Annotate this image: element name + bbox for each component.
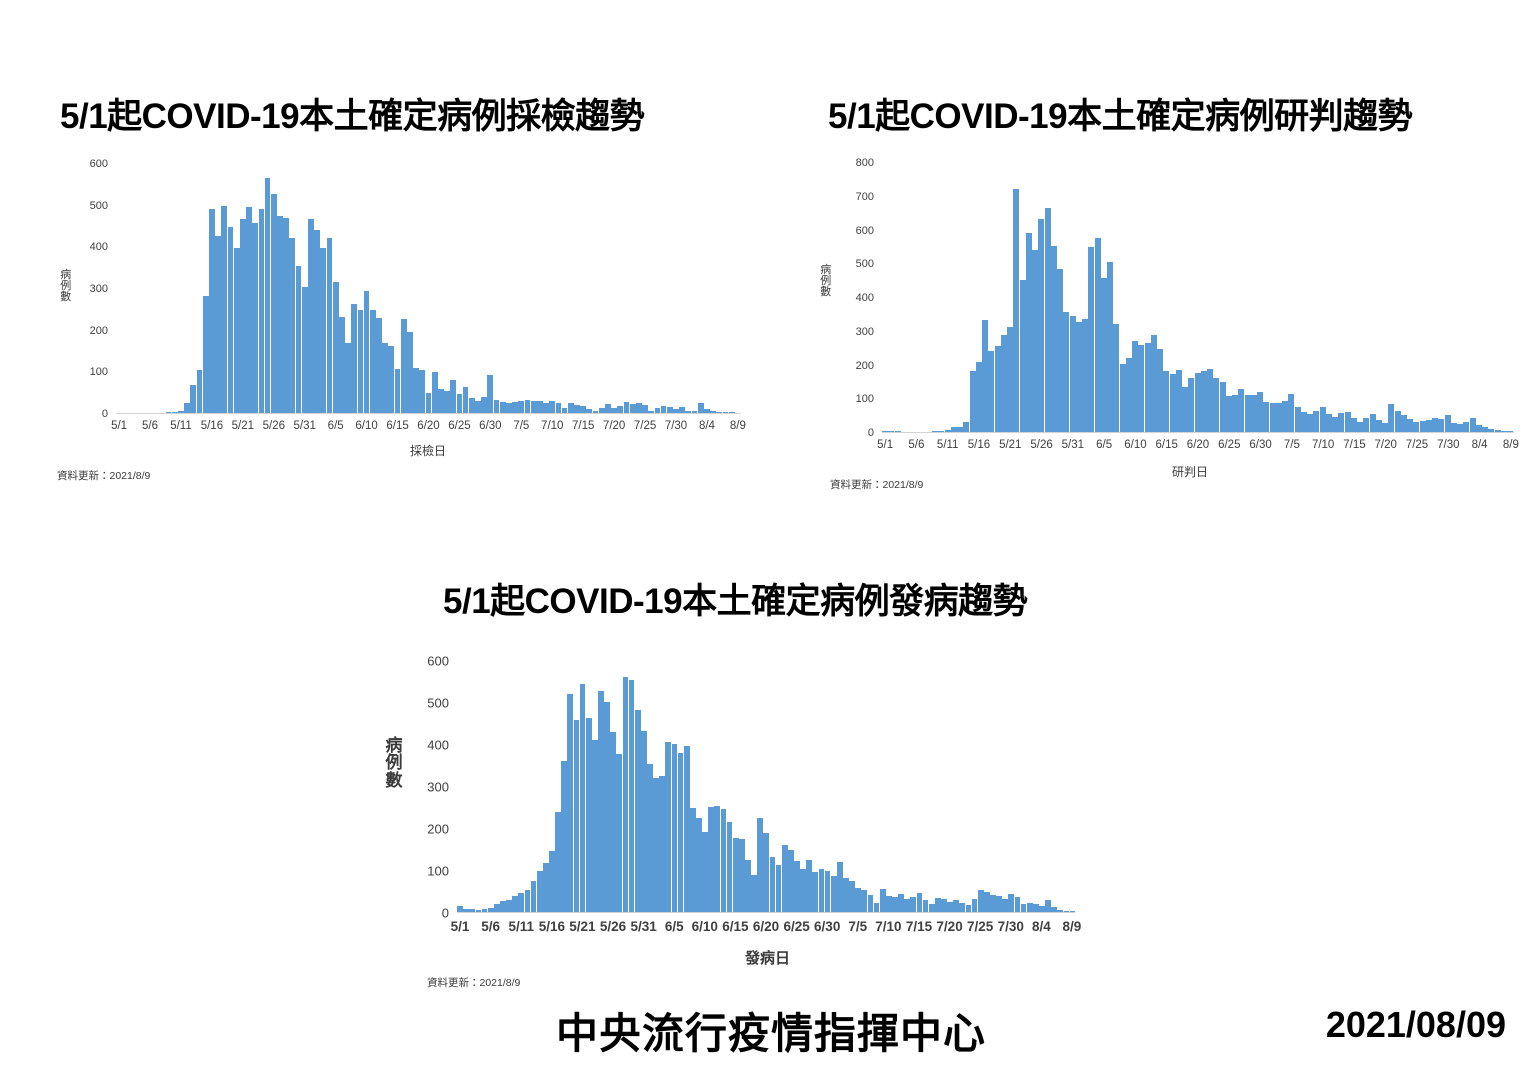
bar <box>1027 903 1033 912</box>
bar <box>963 422 969 432</box>
bar <box>555 812 561 912</box>
bar <box>265 178 271 413</box>
bar <box>1201 371 1207 432</box>
x-tick-label: 6/20 <box>1187 439 1209 451</box>
bar <box>1001 335 1007 432</box>
bar <box>708 807 714 912</box>
bar <box>370 310 376 413</box>
bar <box>837 862 843 912</box>
bar <box>543 863 549 912</box>
x-tick-label: 8/9 <box>730 420 746 432</box>
bar <box>327 238 333 413</box>
x-tick-label: 5/1 <box>111 420 127 432</box>
x-tick-label: 7/5 <box>513 420 529 432</box>
bar <box>932 431 938 432</box>
bar <box>568 403 574 413</box>
bar <box>586 409 592 413</box>
bar <box>1270 403 1276 432</box>
bar <box>1145 343 1151 432</box>
bar <box>935 898 941 912</box>
bar <box>1407 419 1413 433</box>
bar <box>1307 414 1313 432</box>
bar <box>593 411 599 413</box>
bar <box>882 431 888 432</box>
bar <box>898 894 904 912</box>
bar <box>1063 312 1069 432</box>
bar <box>215 236 221 413</box>
bar <box>1002 899 1008 912</box>
x-tick-label: 5/6 <box>481 919 500 934</box>
bar <box>714 806 720 912</box>
bar <box>172 412 178 413</box>
bar <box>1332 417 1338 432</box>
x-axis-ticks-sampling: 5/15/65/115/165/215/265/316/56/106/156/2… <box>116 420 741 436</box>
y-tick-label: 200 <box>856 360 874 372</box>
bar <box>895 431 901 432</box>
bar <box>271 194 277 413</box>
bar <box>667 407 673 413</box>
bar <box>655 408 661 413</box>
y-tick-label: 400 <box>856 292 874 304</box>
bar <box>469 398 475 413</box>
bar <box>976 362 982 432</box>
bar <box>574 405 580 413</box>
bar <box>1507 431 1513 432</box>
x-tick-label: 7/10 <box>875 919 901 934</box>
bar <box>518 401 524 413</box>
bar <box>382 343 388 413</box>
bar <box>641 731 647 912</box>
bar <box>849 881 855 913</box>
x-axis-title-onset: 發病日 <box>745 947 790 968</box>
y-tick-label: 200 <box>427 822 449 837</box>
bar <box>506 403 512 413</box>
bar <box>806 860 812 913</box>
bar <box>302 287 308 413</box>
x-tick-label: 5/26 <box>263 420 285 432</box>
bar <box>481 397 487 413</box>
bar <box>888 431 894 432</box>
bar <box>1482 427 1488 432</box>
bar <box>659 776 665 912</box>
bar <box>1313 411 1319 432</box>
bar <box>1488 429 1494 432</box>
y-tick-label: 500 <box>427 696 449 711</box>
bar <box>716 412 722 413</box>
bar <box>770 857 776 912</box>
bar <box>246 207 252 413</box>
chart-title-sampling: 5/1起COVID-19本土確定病例採檢趨勢 <box>60 88 644 139</box>
x-tick-label: 5/11 <box>170 420 192 432</box>
bar <box>1082 319 1088 432</box>
bar <box>580 684 586 912</box>
bar <box>500 901 506 912</box>
bar <box>1188 378 1194 432</box>
x-tick-label: 7/20 <box>936 919 962 934</box>
bar <box>673 409 679 413</box>
y-axis-title-char: 數 <box>385 772 403 789</box>
x-tick-label: 5/6 <box>908 439 924 451</box>
bar <box>972 899 978 912</box>
y-tick-label: 400 <box>90 241 108 253</box>
bar <box>190 385 196 413</box>
bar <box>678 753 684 912</box>
bar <box>413 368 419 413</box>
x-axis-title-determination: 研判日 <box>1172 463 1208 480</box>
bar <box>314 230 320 413</box>
bar <box>988 351 994 432</box>
bar <box>487 375 493 413</box>
bar <box>395 369 401 413</box>
footer-organization: 中央流行疫情指揮中心 <box>556 1000 986 1061</box>
bar <box>1282 401 1288 432</box>
bar <box>910 897 916 912</box>
bar <box>800 869 806 912</box>
y-tick-label: 100 <box>427 864 449 879</box>
bar <box>543 403 549 413</box>
bar <box>739 839 745 913</box>
bar <box>500 402 506 413</box>
bar <box>782 845 788 912</box>
bar <box>494 904 500 912</box>
y-tick-label: 300 <box>856 326 874 338</box>
x-tick-label: 5/21 <box>999 439 1021 451</box>
bar <box>1238 389 1244 432</box>
y-axis-title-char: 病 <box>385 737 403 754</box>
bar <box>794 861 800 912</box>
plot-area-sampling <box>116 164 741 414</box>
bar <box>1457 424 1463 432</box>
bar <box>692 411 698 413</box>
bar <box>252 223 258 413</box>
bar <box>696 818 702 912</box>
x-tick-label: 5/16 <box>968 439 990 451</box>
bar <box>729 412 735 413</box>
x-tick-label: 5/21 <box>232 420 254 432</box>
bar <box>672 744 678 912</box>
bar <box>616 754 622 912</box>
x-tick-label: 5/21 <box>569 919 595 934</box>
x-axis-ticks-onset: 5/15/65/115/165/215/265/316/56/106/156/2… <box>457 919 1075 935</box>
bar <box>1470 418 1476 432</box>
bar <box>240 219 246 413</box>
x-tick-label: 5/16 <box>539 919 565 934</box>
bar <box>642 405 648 413</box>
bar <box>751 875 757 912</box>
bar <box>996 896 1002 912</box>
bar <box>661 406 667 414</box>
bar <box>512 402 518 413</box>
x-tick-label: 7/25 <box>1406 439 1428 451</box>
bar <box>444 391 450 413</box>
bar <box>1015 897 1021 912</box>
x-tick-label: 6/5 <box>665 919 684 934</box>
y-tick-label: 600 <box>90 158 108 170</box>
bar <box>283 218 289 413</box>
bar <box>990 895 996 912</box>
bar <box>825 871 831 912</box>
bar <box>1351 418 1357 433</box>
bar <box>562 408 568 413</box>
bar <box>561 761 567 912</box>
x-tick-label: 5/26 <box>600 919 626 934</box>
bar <box>861 890 867 912</box>
bar <box>630 404 636 413</box>
bar <box>339 317 345 413</box>
bar <box>1501 431 1507 432</box>
bar <box>525 890 531 912</box>
bar <box>1357 422 1363 432</box>
bar <box>947 902 953 913</box>
bar <box>1288 394 1294 432</box>
x-tick-label: 5/1 <box>877 439 893 451</box>
bar <box>945 430 951 432</box>
bar <box>831 876 837 912</box>
bar <box>1020 280 1026 432</box>
x-tick-label: 7/20 <box>603 420 625 432</box>
x-tick-label: 5/31 <box>630 919 656 934</box>
bar <box>1157 349 1163 432</box>
bar <box>1132 341 1138 432</box>
bar <box>197 370 203 413</box>
bar <box>1064 911 1070 912</box>
x-tick-label: 6/30 <box>814 919 840 934</box>
bar <box>1076 322 1082 432</box>
bar <box>592 740 598 912</box>
y-tick-label: 200 <box>90 325 108 337</box>
y-axis-ticks-onset: 0100200300400500600 <box>415 661 449 913</box>
bar <box>636 403 642 413</box>
bar <box>488 908 494 912</box>
bar <box>1207 369 1213 432</box>
bar <box>364 291 370 414</box>
x-tick-label: 8/4 <box>1032 919 1051 934</box>
bar <box>984 892 990 912</box>
bar <box>653 778 659 912</box>
bar <box>1138 345 1144 432</box>
bar <box>228 227 234 413</box>
bar <box>1195 373 1201 432</box>
update-note-sampling: 資料更新：2021/8/9 <box>57 468 150 483</box>
bar <box>951 427 957 432</box>
bar <box>957 427 963 432</box>
x-tick-label: 6/15 <box>386 420 408 432</box>
x-tick-label: 6/30 <box>479 420 501 432</box>
bar <box>1032 250 1038 432</box>
bar <box>432 372 438 413</box>
bar <box>623 677 629 912</box>
y-tick-label: 600 <box>856 225 874 237</box>
bar <box>296 266 302 414</box>
bar <box>679 407 685 413</box>
bar <box>1376 420 1382 432</box>
x-tick-label: 7/5 <box>1284 439 1300 451</box>
bar <box>567 694 573 912</box>
bar <box>1126 358 1132 432</box>
bar <box>221 206 227 413</box>
bar <box>970 371 976 432</box>
bar <box>599 408 605 413</box>
bar <box>1382 423 1388 432</box>
y-tick-label: 0 <box>868 427 874 439</box>
bar <box>684 746 690 912</box>
bar <box>702 832 708 912</box>
chart-sampling: 病例數 0100200300400500600 5/15/65/115/165/… <box>60 150 760 480</box>
bar <box>1388 404 1394 432</box>
x-tick-label: 5/31 <box>294 420 316 432</box>
bar <box>648 411 654 413</box>
y-axis-ticks-sampling: 0100200300400500600 <box>74 164 108 414</box>
bar <box>494 400 500 413</box>
bar <box>259 209 265 413</box>
y-axis-title-char: 數 <box>820 287 832 298</box>
bar <box>574 720 580 912</box>
bar <box>457 394 463 413</box>
y-axis-title-determination: 病例數 <box>820 265 832 299</box>
bar <box>1413 422 1419 432</box>
x-axis-ticks-determination: 5/15/65/115/165/215/265/316/56/106/156/2… <box>882 439 1514 455</box>
bar <box>1370 414 1376 432</box>
bar <box>1438 419 1444 432</box>
bar <box>1170 374 1176 432</box>
y-tick-label: 700 <box>856 191 874 203</box>
x-tick-label: 6/10 <box>355 420 377 432</box>
bar <box>1451 423 1457 432</box>
x-tick-label: 6/15 <box>722 919 748 934</box>
bar <box>843 878 849 912</box>
bar <box>475 401 481 414</box>
bar <box>635 710 641 912</box>
bar <box>598 691 604 912</box>
y-axis-title-char: 數 <box>60 292 72 303</box>
x-tick-label: 5/6 <box>142 420 158 432</box>
bar <box>978 890 984 912</box>
bar <box>549 401 555 413</box>
bar <box>610 732 616 912</box>
x-tick-label: 6/10 <box>1124 439 1146 451</box>
y-tick-label: 0 <box>442 906 449 921</box>
bar <box>982 320 988 432</box>
bar <box>345 343 351 413</box>
x-tick-label: 6/5 <box>328 420 344 432</box>
bar <box>1213 378 1219 432</box>
y-axis-title-sampling: 病例數 <box>60 270 72 304</box>
bar <box>537 871 543 912</box>
footer-date: 2021/08/09 <box>1326 1004 1506 1046</box>
x-tick-label: 7/25 <box>634 420 656 432</box>
bar <box>580 406 586 413</box>
bar <box>1008 894 1014 912</box>
bar <box>1295 407 1301 432</box>
bar <box>721 809 727 912</box>
bar <box>1220 382 1226 432</box>
bar <box>1013 189 1019 432</box>
bar <box>1232 395 1238 432</box>
bar <box>763 833 769 912</box>
bar <box>1495 430 1501 432</box>
bar <box>1007 327 1013 432</box>
bar <box>426 393 432 413</box>
bar <box>1301 412 1307 432</box>
x-tick-label: 7/15 <box>1343 439 1365 451</box>
chart-determination: 病例數 0100200300400500600700800 5/15/65/11… <box>820 145 1520 490</box>
bar <box>586 718 592 912</box>
x-tick-label: 5/11 <box>937 439 959 451</box>
bar <box>880 889 886 912</box>
bar <box>1101 278 1107 432</box>
bar <box>1057 269 1063 432</box>
bar <box>874 903 880 912</box>
x-tick-label: 7/30 <box>998 919 1024 934</box>
bar <box>995 346 1001 432</box>
bar <box>938 431 944 432</box>
bar <box>1363 418 1369 432</box>
bar <box>531 401 537 414</box>
bar <box>1057 910 1063 912</box>
bar <box>1445 415 1451 432</box>
x-tick-label: 7/30 <box>665 420 687 432</box>
bar <box>868 895 874 912</box>
x-tick-label: 6/10 <box>692 919 718 934</box>
bar <box>1051 907 1057 912</box>
bar <box>1463 422 1469 432</box>
x-tick-label: 6/25 <box>1218 439 1240 451</box>
bar <box>351 304 357 413</box>
chart-title-determination: 5/1起COVID-19本土確定病例研判趨勢 <box>828 88 1412 139</box>
bar <box>1426 420 1432 432</box>
bar <box>1320 407 1326 432</box>
bar <box>1039 906 1045 912</box>
bar <box>917 893 923 912</box>
bar <box>1033 904 1039 912</box>
bar <box>463 387 469 413</box>
bar <box>512 896 518 912</box>
x-tick-label: 8/4 <box>1472 439 1488 451</box>
bar <box>476 910 482 912</box>
bar <box>690 808 696 912</box>
bar <box>178 411 184 413</box>
bar <box>320 248 326 413</box>
bar <box>1045 208 1051 432</box>
bar <box>617 406 623 413</box>
y-tick-label: 800 <box>856 157 874 169</box>
bar <box>549 851 555 912</box>
bar <box>757 818 763 913</box>
x-tick-label: 7/30 <box>1437 439 1459 451</box>
x-tick-label: 6/25 <box>783 919 809 934</box>
bar <box>959 903 965 912</box>
bar <box>788 850 794 912</box>
bar <box>776 865 782 912</box>
bar <box>1088 247 1094 432</box>
bar <box>203 296 209 414</box>
bar <box>289 238 295 413</box>
bar <box>537 401 543 413</box>
y-tick-label: 300 <box>90 283 108 295</box>
bar <box>407 332 413 413</box>
bar <box>1245 395 1251 432</box>
bar <box>1026 233 1032 432</box>
x-tick-label: 7/15 <box>572 420 594 432</box>
bar <box>892 897 898 912</box>
y-tick-label: 300 <box>427 780 449 795</box>
bar <box>1263 402 1269 432</box>
y-tick-label: 400 <box>427 738 449 753</box>
bar <box>1401 415 1407 432</box>
bar <box>904 899 910 912</box>
x-tick-label: 6/15 <box>1156 439 1178 451</box>
bar <box>1045 900 1051 912</box>
